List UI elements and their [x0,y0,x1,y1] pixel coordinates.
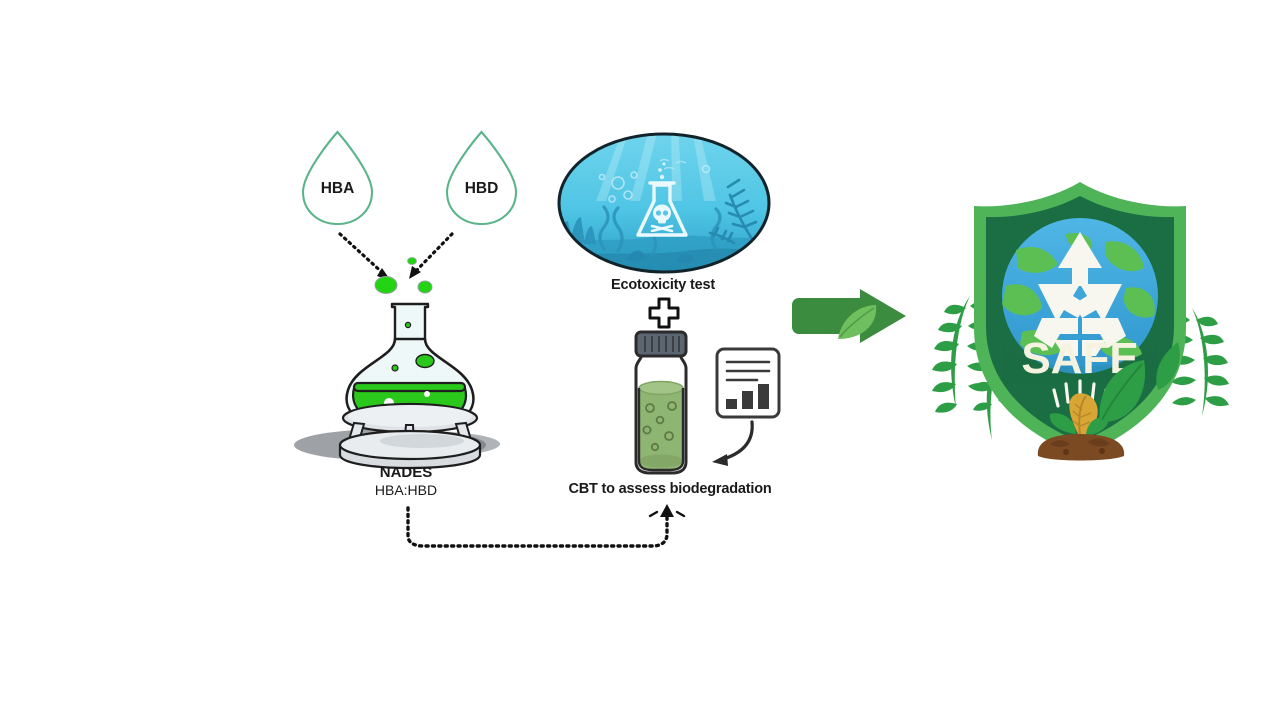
droplet-hbd-shape [444,128,519,228]
droplet-hba: HBA [300,128,375,228]
cbt-illustration [612,330,802,480]
droplet-hba-shape [300,128,375,228]
droplet-hbd-label: HBD [444,180,519,198]
dashed-feedback-arrow [395,500,685,555]
safe-shield-badge: SAFE [930,168,1230,468]
safe-shield-svg: SAFE [930,168,1230,468]
green-leaf-arrow [790,287,908,345]
nades-apparatus [282,295,532,465]
cbt-svg [612,330,802,480]
ecotoxicity-label: Ecotoxicity test [563,277,763,294]
nades-flask-svg [282,295,532,465]
plus-sign-icon [648,297,680,329]
dashed-feedback-svg [395,500,685,555]
nades-subtitle: HBA:HBD [306,482,506,498]
figure-canvas: HBA HBD [0,0,1280,720]
cbt-label: CBT to assess biodegradation [530,481,810,498]
droplet-hba-label: HBA [300,180,375,198]
green-leaf-arrow-svg [790,287,908,345]
droplet-arrows-svg [330,225,460,300]
ecotoxicity-illustration [556,131,772,276]
ecotoxicity-oval-svg [556,131,772,276]
droplet-hbd: HBD [444,128,519,228]
plus-sign-svg [648,297,680,329]
nades-title: NADES [306,464,506,481]
droplet-arrows [330,225,460,300]
